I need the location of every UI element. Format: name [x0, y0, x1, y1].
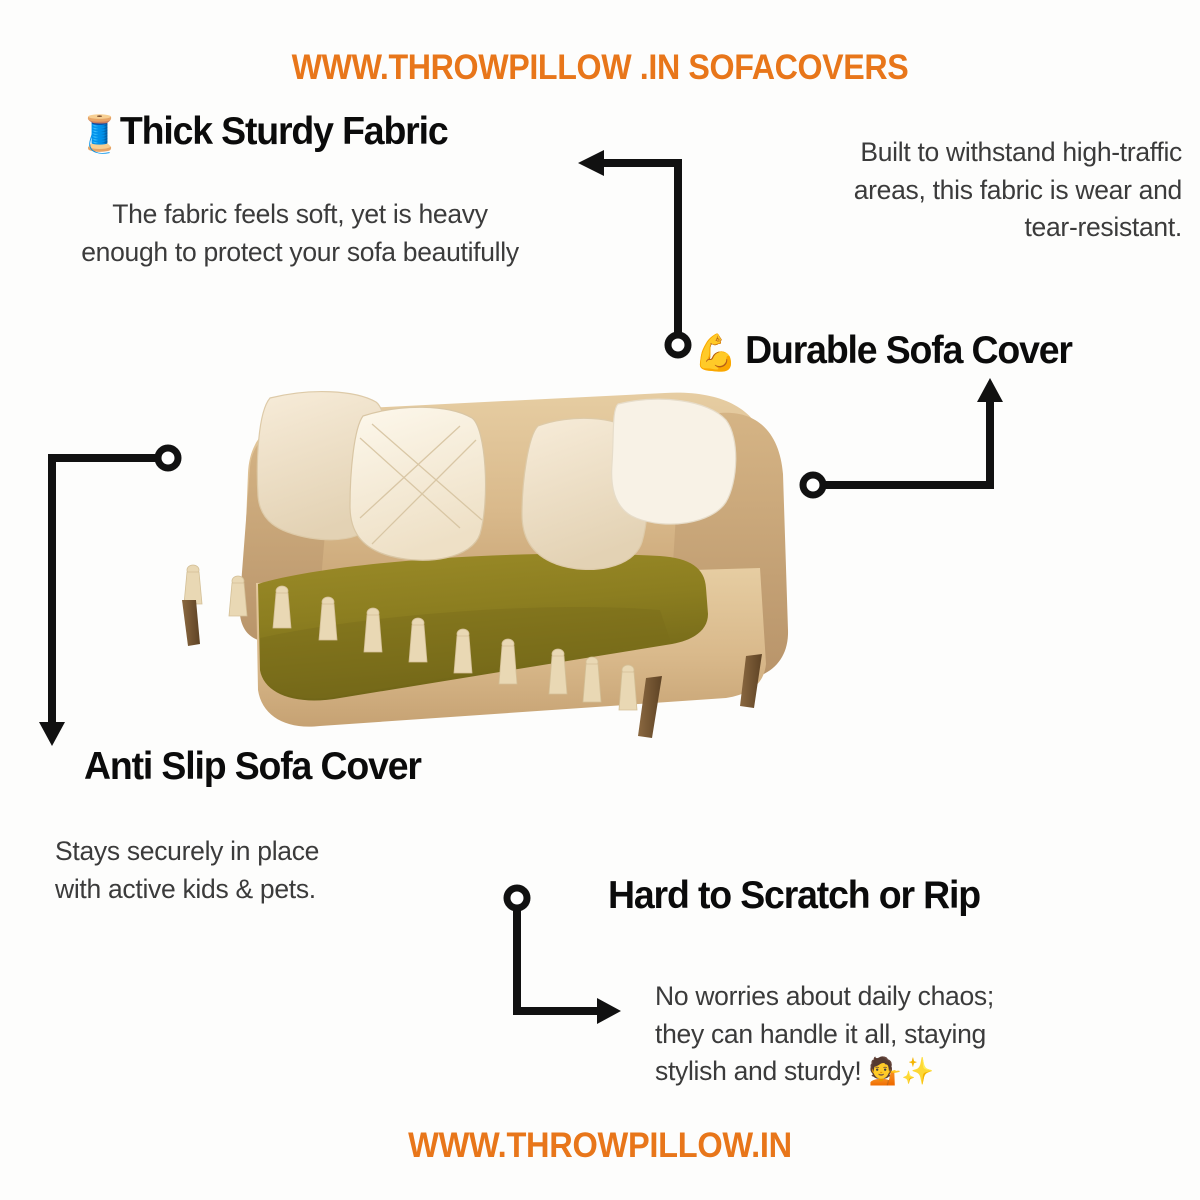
feature-heading-thick-sturdy-fabric: 🧵Thick Sturdy Fabric: [78, 112, 448, 153]
connector-thick-sturdy-fabric: [578, 150, 688, 355]
connector-durable-sofa-cover: [803, 378, 1003, 495]
arrowhead-left-icon: [578, 150, 604, 176]
body-line: Stays securely in place: [55, 833, 515, 871]
body-line: tear-resistant.: [700, 209, 1182, 247]
body-line: areas, this fabric is wear and: [700, 172, 1182, 210]
connector-dot: [668, 335, 688, 355]
connector-hard-to-scratch-or-rip: [507, 888, 621, 1024]
brand-header-title: WWW.THROWPILLOW .IN SOFACOVERS: [48, 48, 1152, 88]
feature-heading-label: Hard to Scratch or Rip: [608, 874, 980, 917]
flexed-biceps-icon: 💪: [694, 332, 736, 373]
body-line: with active kids & pets.: [55, 871, 515, 909]
feature-heading-label: Durable Sofa Cover: [745, 329, 1072, 372]
body-line: stylish and sturdy! 💁✨: [655, 1053, 1125, 1091]
thread-spool-icon: 🧵: [78, 113, 120, 154]
throw-pillow-center-quilted: [350, 407, 486, 560]
feature-body-durable-sofa-cover: Built to withstand high-traffic areas, t…: [700, 134, 1182, 247]
product-image-sofa: [160, 378, 810, 753]
connector-anti-slip-sofa-cover: [39, 448, 178, 746]
feature-heading-label: Thick Sturdy Fabric: [120, 110, 448, 153]
feature-heading-anti-slip-sofa-cover: Anti Slip Sofa Cover: [84, 747, 421, 788]
brand-footer-title: WWW.THROWPILLOW.IN: [42, 1126, 1158, 1166]
feature-body-hard-to-scratch-or-rip: No worries about daily chaos; they can h…: [655, 978, 1125, 1091]
arrowhead-down-icon: [39, 722, 65, 746]
body-line: Built to withstand high-traffic: [700, 134, 1182, 172]
infographic-canvas: WWW.THROWPILLOW .IN SOFACOVERS 🧵Thick St…: [0, 0, 1200, 1200]
body-line: The fabric feels soft, yet is heavy: [18, 196, 582, 234]
body-line: enough to protect your sofa beautifully: [18, 234, 582, 272]
arrowhead-up-icon: [977, 378, 1003, 402]
body-line: No worries about daily chaos;: [655, 978, 1125, 1016]
arrowhead-right-icon: [597, 998, 621, 1024]
feature-body-thick-sturdy-fabric: The fabric feels soft, yet is heavy enou…: [18, 196, 582, 271]
sofa-leg-front-left: [182, 600, 200, 646]
feature-body-anti-slip-sofa-cover: Stays securely in place with active kids…: [55, 833, 515, 908]
feature-heading-hard-to-scratch-or-rip: Hard to Scratch or Rip: [608, 876, 980, 917]
feature-heading-durable-sofa-cover: 💪 Durable Sofa Cover: [694, 331, 1072, 372]
throw-pillow-fluffy-white: [612, 399, 736, 524]
body-line: they can handle it all, staying: [655, 1016, 1125, 1054]
